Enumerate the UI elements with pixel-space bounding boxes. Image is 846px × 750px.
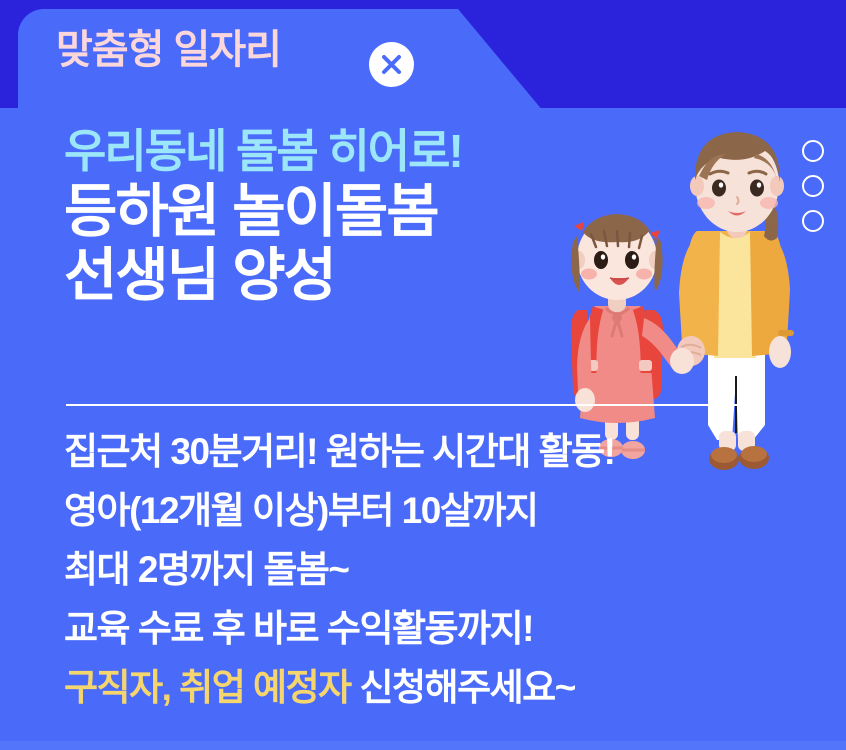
body-line-5: 구직자, 취업 예정자 신청해주세요~ (64, 668, 614, 708)
body-copy-block: 집근처 30분거리! 원하는 시간대 활동! 영아(12개월 이상)부터 10살… (64, 432, 614, 708)
headline-line-2: 선생님 양성 (64, 244, 462, 308)
body-line-1: 집근처 30분거리! 원하는 시간대 활동! (64, 432, 614, 472)
page-dot-2[interactable] (802, 175, 824, 197)
page-indicator-dots (802, 140, 824, 232)
page-dot-1[interactable] (802, 140, 824, 162)
headline-subtitle: 우리동네 돌봄 히어로! (64, 128, 462, 174)
close-button[interactable] (369, 42, 414, 87)
tab-title: 맞춤형 일자리 (56, 30, 281, 70)
promotional-banner: 맞춤형 일자리 (0, 0, 846, 750)
headline-line-1: 등하원 놀이돌봄 (64, 180, 462, 244)
headline-block: 우리동네 돌봄 히어로! 등하원 놀이돌봄 선생님 양성 (64, 128, 462, 308)
body-line-5-highlight: 구직자, 취업 예정자 (64, 667, 351, 708)
body-line-5-rest: 신청해주세요~ (351, 667, 575, 708)
close-icon (369, 42, 414, 87)
page-dot-3[interactable] (802, 210, 824, 232)
divider-line (66, 404, 750, 406)
body-line-3: 최대 2명까지 돌봄~ (64, 550, 614, 590)
body-line-2: 영아(12개월 이상)부터 10살까지 (64, 491, 614, 531)
body-line-4: 교육 수료 후 바로 수익활동까지! (64, 609, 614, 649)
panel-bottom-strip (0, 741, 846, 750)
